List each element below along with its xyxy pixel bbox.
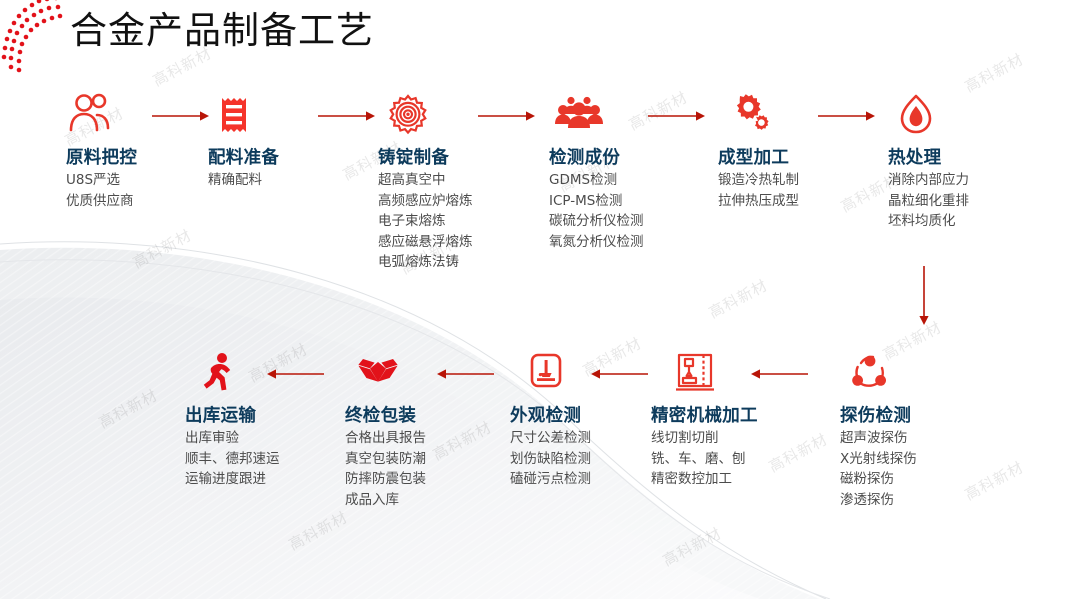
step-item: 成品入库 [345,490,426,511]
step-item: 出库审验 [185,428,280,449]
step-item: 电子束熔炼 [378,211,473,232]
people-group-icon [555,92,603,138]
flame-icon [894,92,942,138]
step-item: 真空包装防潮 [345,449,426,470]
step-title: 原料把控 [66,144,137,169]
step-item: 电弧熔炼法铸 [378,252,473,273]
step-item-list: 消除内部应力 晶粒细化重排 坯料均质化 [888,170,969,232]
step-item: 尺寸公差检测 [510,428,591,449]
two-gears-icon [724,92,772,138]
step-item: 合格出具报告 [345,428,426,449]
step-item: 超声波探伤 [840,428,917,449]
step-item: 高频感应炉熔炼 [378,191,473,212]
step-item: ICP-MS检测 [549,191,644,212]
step-title: 探伤检测 [840,402,911,427]
step-item: 精密数控加工 [651,469,746,490]
three-dot-triangle-icon [848,350,896,396]
step-item: 感应磁悬浮熔炼 [378,232,473,253]
step-title: 外观检测 [510,402,581,427]
step-item: 渗透探伤 [840,490,917,511]
step-item-list: 超高真空中 高频感应炉熔炼 电子束熔炼 感应磁悬浮熔炼 电弧熔炼法铸 [378,170,473,273]
step-item-list: 超声波探伤 X光射线探伤 磁粉探伤 渗透探伤 [840,428,917,510]
connector-arrow-right [152,110,210,122]
step-item: 优质供应商 [66,191,134,212]
gear-rings-icon [386,92,434,138]
step-item: 坯料均质化 [888,211,969,232]
slide-canvas: 高科新材 高科新材 高科新材 高科新材 高科新材 高科新材 高科新材 高科新材 … [0,0,1066,599]
step-item-list: 合格出具报告 真空包装防潮 防摔防震包装 成品入库 [345,428,426,510]
step-item: 超高真空中 [378,170,473,191]
microscope-square-icon [524,350,572,396]
step-item: 精确配料 [208,170,262,191]
step-item: 磕碰污点检测 [510,469,591,490]
connector-arrow-left [266,368,324,380]
cnc-machine-icon [673,350,721,396]
connector-arrow-right [318,110,376,122]
step-item: 拉伸热压成型 [718,191,799,212]
step-item: 晶粒细化重排 [888,191,969,212]
step-item: 碳硫分析仪检测 [549,211,644,232]
receipt-icon [216,92,264,138]
open-box-icon [355,350,403,396]
step-title: 出库运输 [185,402,256,427]
step-title: 终检包装 [345,402,416,427]
step-item-list: 线切割切削 铣、车、磨、刨 精密数控加工 [651,428,746,490]
step-item: U8S严选 [66,170,134,191]
connector-arrow-right [648,110,706,122]
connector-arrow-left [590,368,648,380]
step-title: 精密机械加工 [651,402,758,427]
step-item: 氧氮分析仪检测 [549,232,644,253]
page-title: 合金产品制备工艺 [70,6,374,56]
dot-arc-decoration [0,0,76,104]
step-item-list: 锻造冷热轧制 拉伸热压成型 [718,170,799,211]
step-item: 顺丰、德邦速运 [185,449,280,470]
step-item: 锻造冷热轧制 [718,170,799,191]
step-item: 磁粉探伤 [840,469,917,490]
step-item-list: GDMS检测 ICP-MS检测 碳硫分析仪检测 氧氮分析仪检测 [549,170,644,252]
connector-arrow-down [918,266,930,326]
step-item: GDMS检测 [549,170,644,191]
connector-arrow-left [436,368,494,380]
people-outline-icon [66,92,114,138]
step-item: 铣、车、磨、刨 [651,449,746,470]
running-person-icon [199,350,247,396]
step-title: 检测成份 [549,144,620,169]
step-item: 运输进度跟进 [185,469,280,490]
step-item: 划伤缺陷检测 [510,449,591,470]
step-title: 铸锭制备 [378,144,449,169]
step-item: 线切割切削 [651,428,746,449]
connector-arrow-right [818,110,876,122]
connector-arrow-left [750,368,808,380]
step-item-list: 尺寸公差检测 划伤缺陷检测 磕碰污点检测 [510,428,591,490]
step-title: 热处理 [888,144,941,169]
step-item-list: U8S严选 优质供应商 [66,170,134,211]
step-item: X光射线探伤 [840,449,917,470]
step-title: 成型加工 [718,144,789,169]
connector-arrow-right [478,110,536,122]
step-item-list: 精确配料 [208,170,262,191]
step-item-list: 出库审验 顺丰、德邦速运 运输进度跟进 [185,428,280,490]
step-item: 防摔防震包装 [345,469,426,490]
step-item: 消除内部应力 [888,170,969,191]
step-title: 配料准备 [208,144,279,169]
